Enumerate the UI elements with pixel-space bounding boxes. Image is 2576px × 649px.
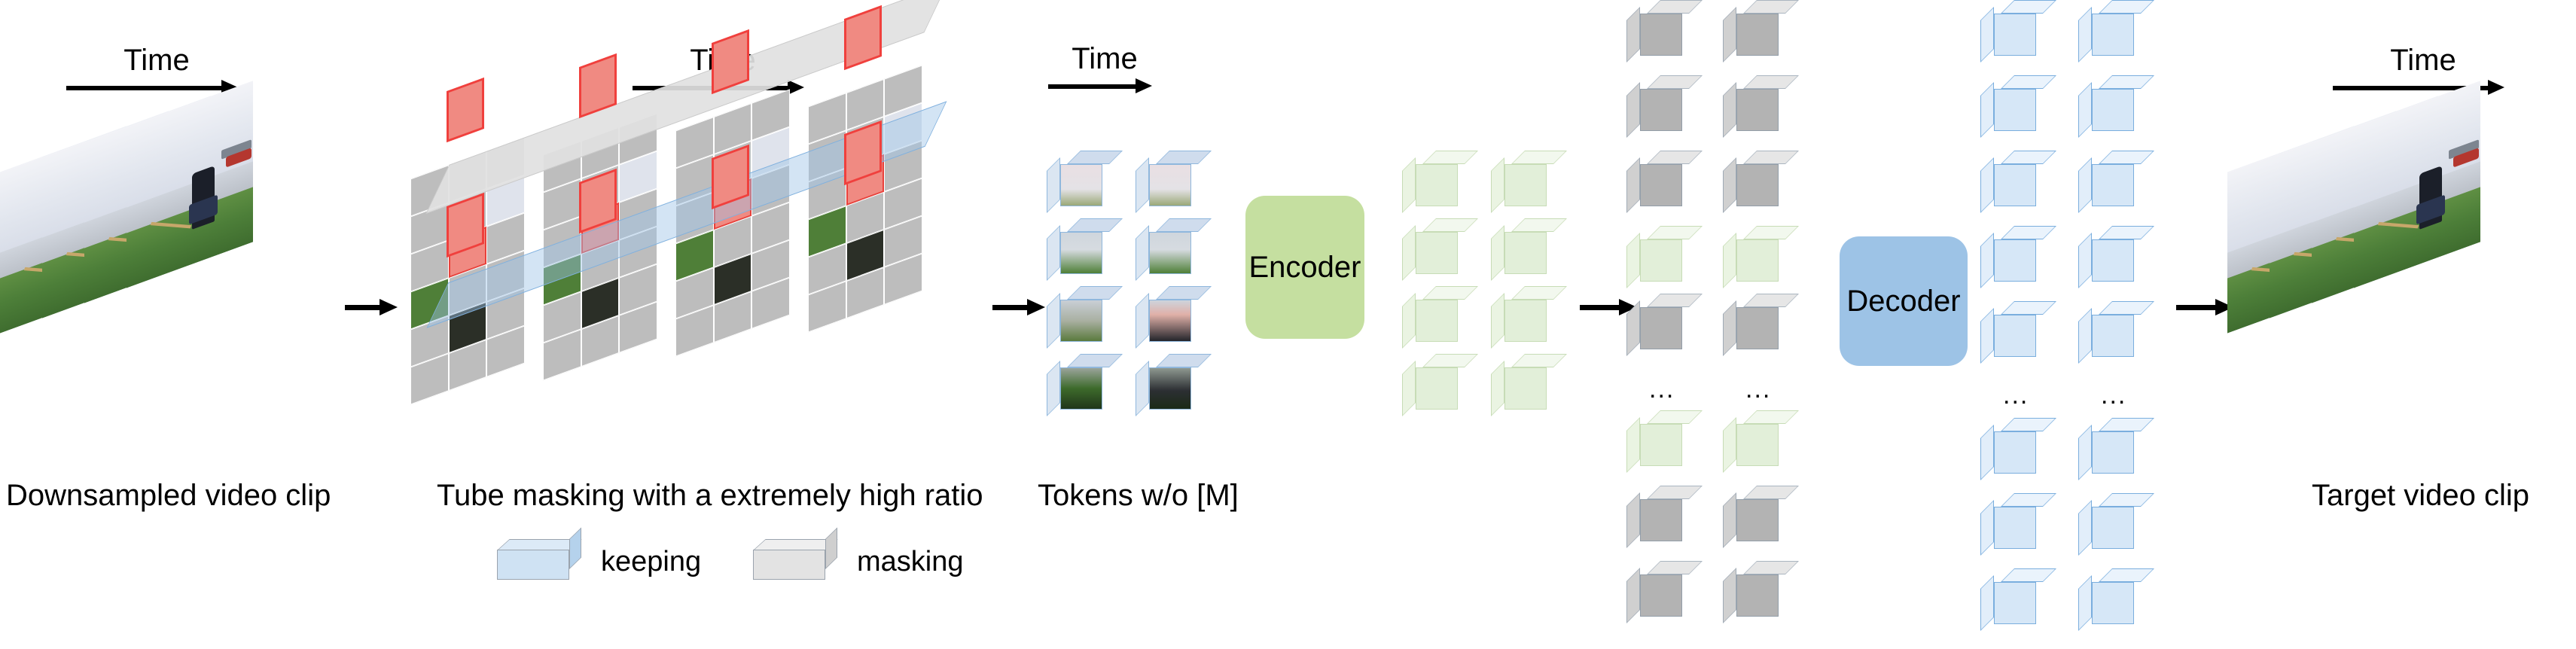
token-cube	[1136, 151, 1191, 206]
video-frame	[2354, 81, 2480, 288]
mask-token-cube	[1723, 75, 1779, 131]
caption-target-video-clip: Target video clip	[2312, 480, 2529, 510]
encoder-label: Encoder	[1249, 251, 1361, 285]
reconstructed-cube	[2078, 568, 2134, 624]
figure-canvas: Time Downsampled video clip Time	[0, 0, 2576, 649]
masked-frame-slab	[808, 65, 922, 332]
encoder-module[interactable]: Encoder	[1245, 196, 1364, 339]
reconstructed-cube	[1980, 151, 2036, 206]
ellipsis-decoder-input-col2: ...	[1745, 376, 1771, 402]
time-label: Time	[1048, 44, 1161, 74]
decoder-input-grid: ... ...	[1626, 0, 1830, 649]
mask-token-cube	[1723, 486, 1779, 541]
target-video-clip	[2227, 90, 2559, 316]
downsampled-video-clip	[0, 90, 331, 316]
legend-label-masking: masking	[857, 547, 964, 576]
reconstructed-cube	[2078, 301, 2134, 357]
time-label: Time	[66, 45, 247, 75]
latent-cube	[1626, 410, 1682, 466]
mask-token-cube	[1626, 0, 1682, 56]
token-cube	[1136, 286, 1191, 342]
mask-token-cube	[1626, 151, 1682, 206]
latent-cube	[1491, 218, 1547, 274]
highlight-patch	[447, 78, 484, 142]
token-cube	[1047, 218, 1102, 274]
latent-cube	[1402, 151, 1458, 206]
latent-cube	[1491, 354, 1547, 410]
reconstructed-cube	[2078, 0, 2134, 56]
time-arrow-icon	[1048, 81, 1161, 91]
mask-token-cube	[1723, 561, 1779, 617]
token-cube	[1047, 286, 1102, 342]
latent-cube	[1723, 410, 1779, 466]
legend-label-keeping: keeping	[601, 547, 701, 576]
mask-token-cube	[1626, 294, 1682, 349]
reconstructed-cube	[2078, 493, 2134, 549]
ellipsis-reconstruction-col2: ...	[2101, 382, 2126, 408]
latent-cube	[1402, 354, 1458, 410]
reconstructed-cube	[1980, 301, 2036, 357]
latent-cube	[1402, 218, 1458, 274]
reconstructed-cube	[2078, 226, 2134, 282]
highlight-patch	[844, 5, 882, 70]
latent-cube	[1626, 226, 1682, 282]
reconstructed-cube	[1980, 0, 2036, 56]
token-cube	[1136, 354, 1191, 410]
mask-token-cube	[1723, 151, 1779, 206]
reconstructed-cube	[1980, 568, 2036, 624]
reconstruction-grid: ... ...	[1980, 0, 2191, 649]
flow-arrow-1-icon	[345, 301, 399, 313]
legend-swatch-keeping	[497, 539, 587, 581]
caption-tokens: Tokens w/o [M]	[1038, 480, 1239, 510]
time-axis-3: Time	[1048, 44, 1161, 91]
reconstructed-cube	[1980, 75, 2036, 131]
ellipsis-decoder-input-col1: ...	[1649, 376, 1675, 402]
token-cube	[1047, 354, 1102, 410]
token-cube	[1047, 151, 1102, 206]
decoder-module[interactable]: Decoder	[1840, 236, 1968, 366]
reconstructed-cube	[2078, 75, 2134, 131]
reconstructed-cube	[2078, 151, 2134, 206]
mask-token-cube	[1723, 294, 1779, 349]
tokens-without-mask-grid	[1047, 151, 1242, 422]
caption-tube-masking: Tube masking with a extremely high ratio	[437, 480, 983, 510]
reconstructed-cube	[1980, 226, 2036, 282]
latent-cube	[1491, 151, 1547, 206]
latent-feature-grid	[1402, 151, 1598, 422]
reconstructed-cube	[1980, 493, 2036, 549]
ellipsis-reconstruction-col1: ...	[2003, 382, 2029, 408]
reconstructed-cube	[2078, 418, 2134, 474]
token-cube	[1136, 218, 1191, 274]
latent-cube	[1723, 226, 1779, 282]
tube-masking-volume	[410, 83, 983, 444]
reconstructed-cube	[1980, 418, 2036, 474]
latent-cube	[1491, 286, 1547, 342]
video-frame	[127, 81, 253, 288]
legend-swatch-masking	[753, 539, 843, 581]
decoder-label: Decoder	[1846, 285, 1960, 318]
time-axis-1: Time	[66, 45, 247, 93]
time-axis-4: Time	[2333, 45, 2514, 93]
caption-downsampled-video-clip: Downsampled video clip	[6, 480, 331, 510]
latent-cube	[1402, 286, 1458, 342]
flow-arrow-2-icon	[992, 301, 1047, 313]
time-label: Time	[2333, 45, 2514, 75]
mask-token-cube	[1626, 75, 1682, 131]
mask-token-cube	[1626, 561, 1682, 617]
mask-token-cube	[1626, 486, 1682, 541]
mask-token-cube	[1723, 0, 1779, 56]
